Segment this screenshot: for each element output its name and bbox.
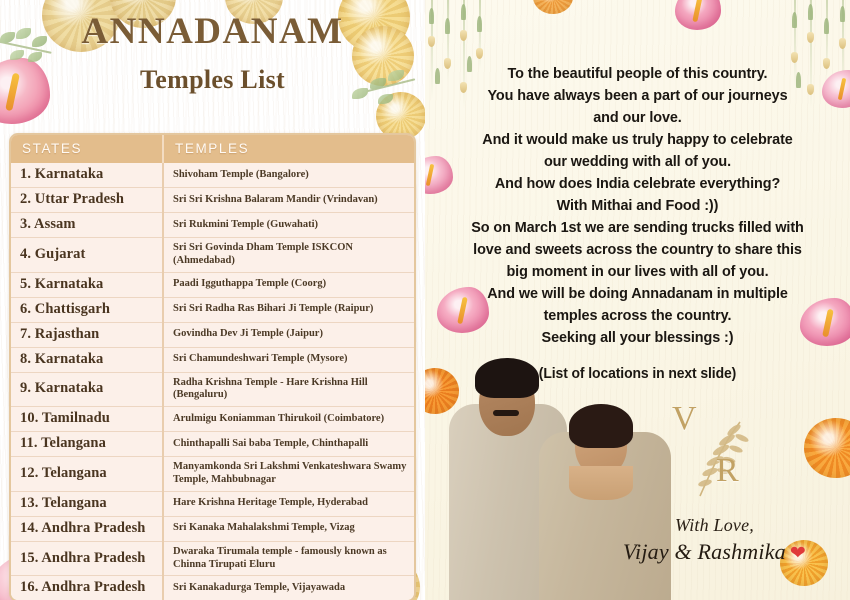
- table-row: 14. Andhra PradeshSri Kanaka Mahalakshmi…: [11, 516, 414, 541]
- table-row: 15. Andhra PradeshDwaraka Tirumala templ…: [11, 541, 414, 576]
- marigold-flower-icon: [804, 418, 850, 478]
- temples-table: STATES TEMPLES 1. KarnatakaShivoham Temp…: [11, 135, 414, 600]
- bride-figure: [539, 370, 671, 600]
- message-line: With Mithai and Food :)): [450, 195, 825, 217]
- cell-state: 5. Karnataka: [11, 272, 163, 297]
- table-row: 5. KarnatakaPaadi Igguthappa Temple (Coo…: [11, 272, 414, 297]
- cell-state: 2. Uttar Pradesh: [11, 188, 163, 213]
- cell-state: 6. Chattisgarh: [11, 297, 163, 322]
- monogram-initial-r: R: [716, 452, 740, 490]
- table-row: 7. RajasthanGovindha Dev Ji Temple (Jaip…: [11, 322, 414, 347]
- cell-state: 16. Andhra Pradesh: [11, 576, 163, 600]
- message-line: our wedding with all of you.: [450, 151, 825, 173]
- message-line: And how does India celebrate everything?: [450, 173, 825, 195]
- column-header-states: STATES: [11, 135, 163, 163]
- monogram-initial-v: V: [672, 400, 698, 438]
- cell-state: 10. Tamilnadu: [11, 407, 163, 432]
- cell-state: 7. Rajasthan: [11, 322, 163, 347]
- message-panel: To the beautiful people of this country.…: [425, 0, 850, 600]
- cell-temple: Dwaraka Tirumala temple - famously known…: [163, 541, 414, 576]
- message-line: You have always been a part of our journ…: [450, 85, 825, 107]
- cell-temple: Sri Sri Krishna Balaram Mandir (Vrindava…: [163, 188, 414, 213]
- table-row: 6. ChattisgarhSri Sri Radha Ras Bihari J…: [11, 297, 414, 322]
- bride-hair: [569, 404, 633, 448]
- cell-temple: Hare Krishna Heritage Temple, Hyderabad: [163, 491, 414, 516]
- table-row: 9. KarnatakaRadha Krishna Temple - Hare …: [11, 372, 414, 407]
- cell-temple: Sri Chamundeshwari Temple (Mysore): [163, 347, 414, 372]
- cell-temple: Govindha Dev Ji Temple (Jaipur): [163, 322, 414, 347]
- column-header-temples: TEMPLES: [163, 135, 414, 163]
- cell-temple: Manyamkonda Sri Lakshmi Venkateshwara Sw…: [163, 457, 414, 492]
- cell-temple: Sri Sri Radha Ras Bihari Ji Temple (Raip…: [163, 297, 414, 322]
- cell-temple: Sri Kanaka Mahalakshmi Temple, Vizag: [163, 516, 414, 541]
- table-row: 13. TelanganaHare Krishna Heritage Templ…: [11, 491, 414, 516]
- message-line: and our love.: [450, 107, 825, 129]
- table-row: 1. KarnatakaShivoham Temple (Bangalore): [11, 163, 414, 188]
- table-body: 1. KarnatakaShivoham Temple (Bangalore)2…: [11, 163, 414, 600]
- message-line: love and sweets across the country to sh…: [450, 239, 825, 261]
- table-row: 2. Uttar PradeshSri Sri Krishna Balaram …: [11, 188, 414, 213]
- cell-state: 12. Telangana: [11, 457, 163, 492]
- invitation-slide: ANNADANAM Temples List STATES TEMPLES 1.…: [0, 0, 850, 600]
- message-line: To the beautiful people of this country.: [450, 63, 825, 85]
- page-title: ANNADANAM: [0, 10, 425, 53]
- table-row: 3. AssamSri Rukmini Temple (Guwahati): [11, 213, 414, 238]
- cell-temple: Paadi Igguthappa Temple (Coorg): [163, 272, 414, 297]
- signature-names: Vijay & Rashmika❤: [607, 539, 822, 565]
- cell-state: 1. Karnataka: [11, 163, 163, 188]
- message-line: temples across the country.: [450, 305, 825, 327]
- bride-neck: [569, 466, 633, 500]
- cell-state: 9. Karnataka: [11, 372, 163, 407]
- cell-temple: Sri Kanakadurga Temple, Vijayawada: [163, 576, 414, 600]
- signature-with-love: With Love,: [607, 515, 822, 536]
- table-row: 12. TelanganaManyamkonda Sri Lakshmi Ven…: [11, 457, 414, 492]
- message-line: Seeking all your blessings :): [450, 327, 825, 349]
- temples-table-card: STATES TEMPLES 1. KarnatakaShivoham Temp…: [9, 133, 416, 600]
- message-line: And it would make us truly happy to cele…: [450, 129, 825, 151]
- cell-temple: Sri Sri Govinda Dham Temple ISKCON (Ahme…: [163, 238, 414, 273]
- cell-temple: Arulmigu Koniamman Thirukoil (Coimbatore…: [163, 407, 414, 432]
- cell-state: 15. Andhra Pradesh: [11, 541, 163, 576]
- cell-temple: Sri Rukmini Temple (Guwahati): [163, 213, 414, 238]
- message-line: And we will be doing Annadanam in multip…: [450, 283, 825, 305]
- table-row: 4. GujaratSri Sri Govinda Dham Temple IS…: [11, 238, 414, 273]
- message-line: So on March 1st we are sending trucks fi…: [450, 217, 825, 239]
- table-row: 8. KarnatakaSri Chamundeshwari Temple (M…: [11, 347, 414, 372]
- monogram-vr: V R: [654, 400, 784, 515]
- cell-state: 11. Telangana: [11, 432, 163, 457]
- cell-state: 14. Andhra Pradesh: [11, 516, 163, 541]
- groom-moustache: [493, 410, 519, 416]
- cell-state: 13. Telangana: [11, 491, 163, 516]
- message-note: (List of locations in next slide): [450, 364, 825, 385]
- message-text: To the beautiful people of this country.…: [435, 0, 841, 386]
- table-row: 11. TelanganaChinthapalli Sai baba Templ…: [11, 432, 414, 457]
- title-block: ANNADANAM Temples List: [0, 0, 425, 95]
- signature-block: With Love, Vijay & Rashmika❤: [607, 515, 822, 565]
- cell-temple: Chinthapalli Sai baba Temple, Chinthapal…: [163, 432, 414, 457]
- table-header-row: STATES TEMPLES: [11, 135, 414, 163]
- cell-state: 3. Assam: [11, 213, 163, 238]
- message-spacer: [450, 349, 825, 364]
- cell-temple: Radha Krishna Temple - Hare Krishna Hill…: [163, 372, 414, 407]
- cell-state: 8. Karnataka: [11, 347, 163, 372]
- table-row: 10. TamilnaduArulmigu Koniamman Thirukoi…: [11, 407, 414, 432]
- heart-icon: ❤: [790, 543, 806, 564]
- cell-temple: Shivoham Temple (Bangalore): [163, 163, 414, 188]
- table-row: 16. Andhra PradeshSri Kanakadurga Temple…: [11, 576, 414, 600]
- cell-state: 4. Gujarat: [11, 238, 163, 273]
- table-head: STATES TEMPLES: [11, 135, 414, 163]
- message-line: big moment in our lives with all of you.: [450, 261, 825, 283]
- signature-names-text: Vijay & Rashmika: [623, 539, 786, 564]
- temples-list-panel: ANNADANAM Temples List STATES TEMPLES 1.…: [0, 0, 425, 600]
- page-subtitle: Temples List: [0, 65, 425, 95]
